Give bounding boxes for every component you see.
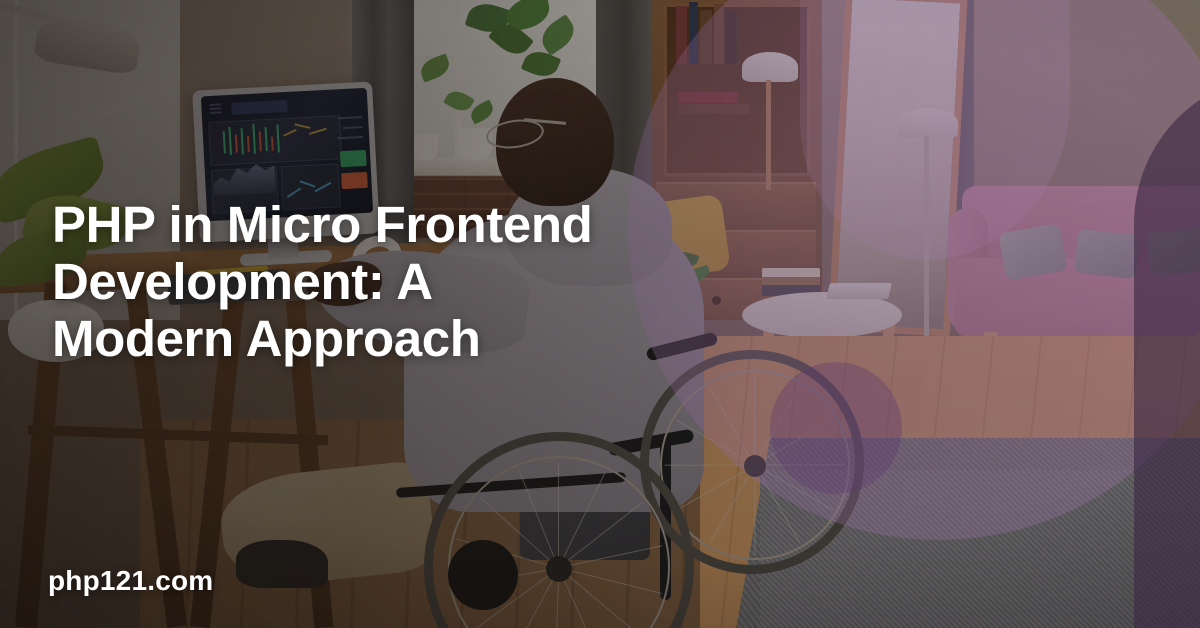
social-share-card: PHP in Micro Frontend Development: A Mod… [0, 0, 1200, 628]
page-title: PHP in Micro Frontend Development: A Mod… [52, 196, 612, 367]
brand-domain: php121.com [48, 565, 213, 597]
